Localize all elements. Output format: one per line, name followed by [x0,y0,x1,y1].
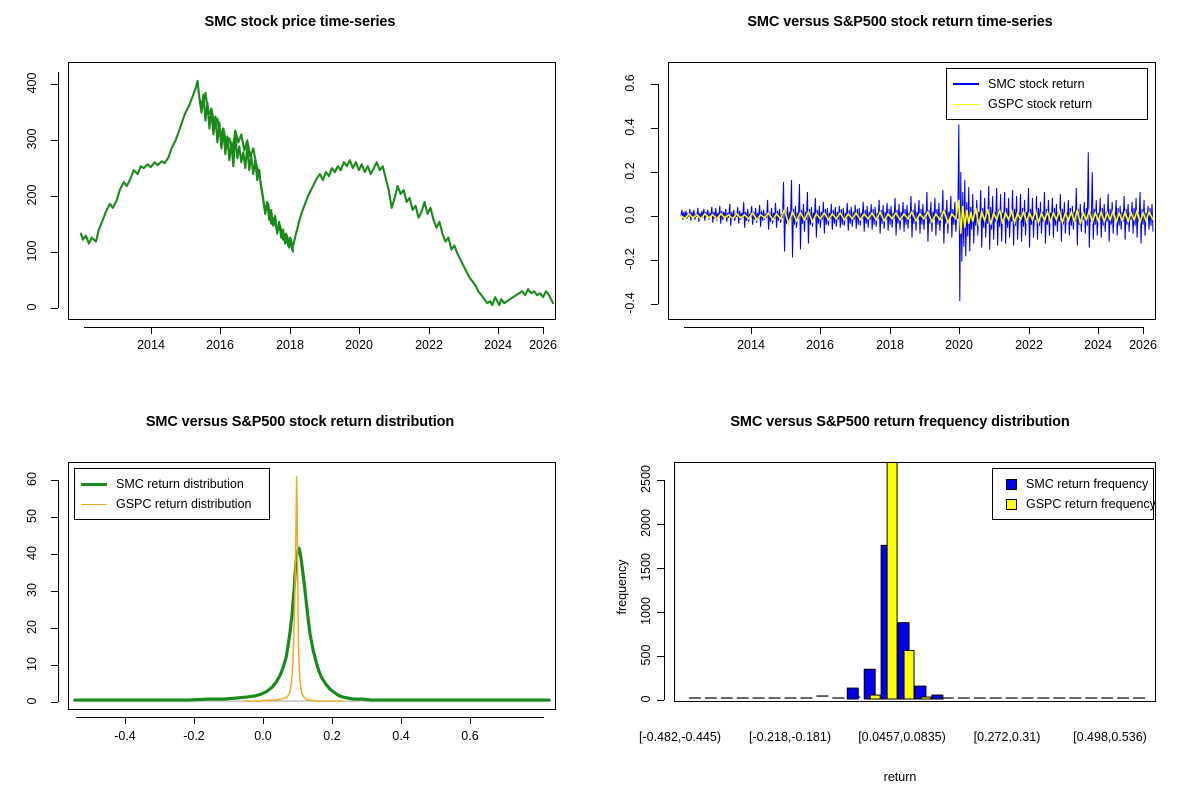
density-ytick-60: 60 [25,457,39,501]
returns-xtickmark-2018 [890,327,891,334]
hist-ytick-500: 500 [639,633,653,677]
panel-density-title: SMC versus S&P500 stock return distribut… [0,414,600,430]
density-xtick-neg04: -0.4 [100,729,150,743]
returns-xtick-2022: 2022 [1004,338,1054,352]
returns-xtickmark-2022 [1029,327,1030,334]
density-xtick-0: 0.0 [238,729,288,743]
panel-price-title: SMC stock price time-series [0,14,600,30]
smc-density-line-swatch [81,483,107,486]
returns-ytick-0: 0.0 [623,191,637,239]
price-xtickmark-2016 [220,327,221,334]
hist-y-axis [664,480,665,700]
hist-bar-gspc-12 [921,697,931,699]
hist-bar-gspc-2900 [887,463,897,699]
returns-ytickmark-neg04 [651,304,658,305]
panel-price-timeseries: SMC stock price time-series 0 100 200 30… [0,0,600,400]
hist-ytickmark-500 [657,656,664,657]
density-ytickmark-60 [51,480,58,481]
returns-ytickmark-06 [651,84,658,85]
returns-xtick-2020: 2020 [934,338,984,352]
hist-legend: SMC return frequency GSPC return frequen… [992,468,1154,520]
returns-ytick-04: 0.4 [623,103,637,151]
density-xtick-04: 0.4 [376,729,426,743]
hist-xtick-bin2: [-0.218,-0.181) [730,730,850,744]
price-ytickmark-100 [51,252,58,253]
hist-ytick-1500: 1500 [639,545,653,589]
hist-ylabel: frequency [615,547,629,627]
returns-x-axis [684,327,1144,328]
returns-ytick-02: 0.2 [623,147,637,195]
returns-xtickmark-2026 [1143,327,1144,334]
returns-y-axis [658,84,659,304]
gspc-return-line-swatch [953,104,979,105]
price-xtick-2026: 2026 [518,338,568,352]
price-xtick-2024: 2024 [473,338,523,352]
density-xtickmark-neg02 [194,717,195,724]
density-xtick-06: 0.6 [445,729,495,743]
returns-xtickmark-2024 [1098,327,1099,334]
returns-xtickmark-2016 [820,327,821,334]
panel-return-distribution: SMC versus S&P500 stock return distribut… [0,400,600,800]
returns-legend: SMC stock return GSPC stock return [946,68,1148,120]
smc-frequency-square-swatch [1006,479,1017,490]
returns-xtick-2024: 2024 [1073,338,1123,352]
gspc-return-legend-label: GSPC stock return [988,97,1092,111]
returns-ytick-neg04: -0.4 [623,279,637,327]
price-xtickmark-2024 [498,327,499,334]
smc-frequency-legend-label: SMC return frequency [1026,477,1148,491]
panel-return-frequency: SMC versus S&P500 return frequency distr… [600,400,1200,800]
price-ytick-0: 0 [25,287,39,327]
gspc-frequency-square-swatch [1006,499,1017,510]
hist-xtick-bin3: [0.0457,0.0835) [838,730,966,744]
price-line-chart [69,63,555,319]
price-xtick-2020: 2020 [334,338,384,352]
price-ytickmark-0 [51,308,58,309]
hist-ytickmark-2500 [657,480,664,481]
hist-bar-smc-70 [847,688,858,699]
hist-ytick-1000: 1000 [639,589,653,633]
density-ytickmark-50 [51,517,58,518]
returns-xtickmark-2014 [751,327,752,334]
price-xtickmark-2014 [151,327,152,334]
price-xtickmark-2018 [290,327,291,334]
density-legend-item-smc: SMC return distribution [81,474,261,494]
price-plot-area [68,62,556,320]
price-ytick-200: 200 [25,175,39,215]
hist-ytickmark-1000 [657,612,664,613]
hist-bar-smc-330 [864,669,875,699]
density-xtickmark-neg04 [125,717,126,724]
price-xtick-2018: 2018 [265,338,315,352]
density-ytickmark-10 [51,665,58,666]
returns-ytick-neg02: -0.2 [623,235,637,283]
density-legend: SMC return distribution GSPC return dist… [74,468,270,520]
returns-legend-item-smc: SMC stock return [953,74,1139,94]
smc-price-line [81,81,553,305]
returns-xtick-2016: 2016 [795,338,845,352]
price-xtick-2014: 2014 [126,338,176,352]
hist-ytickmark-1500 [657,568,664,569]
density-xtickmark-06 [470,717,471,724]
hist-bar-smc-30 [932,695,943,699]
hist-xtick-bin5: [0.498,0.536) [1050,730,1170,744]
hist-legend-item-smc: SMC return frequency [999,474,1145,494]
price-xtick-2016: 2016 [195,338,245,352]
smc-density-curve [75,548,549,700]
hist-ytick-0: 0 [639,677,653,721]
price-ytick-400: 400 [25,63,39,103]
density-ytickmark-20 [51,628,58,629]
density-xtick-neg02: -0.2 [169,729,219,743]
returns-ytickmark-0 [651,216,658,217]
returns-xtick-2014: 2014 [726,338,776,352]
density-y-axis [58,480,59,702]
density-x-axis [76,717,544,718]
density-legend-item-gspc: GSPC return distribution [81,494,261,514]
smc-return-legend-label: SMC stock return [988,77,1085,91]
gspc-density-legend-label: GSPC return distribution [116,497,251,511]
hist-xlabel: return [850,770,950,784]
hist-xtick-bin4: [0.272,0.31) [952,730,1062,744]
hist-ytick-2500: 2500 [639,457,653,501]
figure-grid: SMC stock price time-series 0 100 200 30… [0,0,1200,800]
price-ytick-300: 300 [25,119,39,159]
returns-ytick-06: 0.6 [623,59,637,107]
density-xtickmark-02 [332,717,333,724]
price-ytickmark-400 [51,84,58,85]
returns-ytickmark-02 [651,172,658,173]
returns-xtick-2018: 2018 [865,338,915,352]
density-xtick-02: 0.2 [307,729,357,743]
density-ytickmark-0 [51,702,58,703]
density-xtickmark-0 [263,717,264,724]
hist-ytickmark-0 [657,700,664,701]
price-ytickmark-300 [51,140,58,141]
returns-legend-item-gspc: GSPC stock return [953,94,1139,114]
returns-xtickmark-2020 [959,327,960,334]
hist-legend-item-gspc: GSPC return frequency [999,494,1145,514]
panel-hist-title: SMC versus S&P500 return frequency distr… [600,414,1200,430]
density-ytickmark-30 [51,591,58,592]
panel-return-timeseries: SMC versus S&P500 stock return time-seri… [600,0,1200,400]
hist-bar-gspc-40 [870,695,880,699]
hist-bar-gspc-555 [904,650,914,699]
returns-ytickmark-neg02 [651,260,658,261]
smc-density-legend-label: SMC return distribution [116,477,244,491]
gspc-density-line-swatch [81,504,107,505]
price-ytick-100: 100 [25,231,39,271]
returns-ytickmark-04 [651,128,658,129]
price-ytickmark-200 [51,196,58,197]
price-y-axis [58,72,59,308]
density-xtickmark-04 [401,717,402,724]
panel-returns-title: SMC versus S&P500 stock return time-seri… [600,14,1200,30]
price-x-axis [84,327,544,328]
price-xtickmark-2022 [429,327,430,334]
price-xtick-2022: 2022 [404,338,454,352]
price-xtickmark-2026 [543,327,544,334]
smc-return-line-swatch [953,83,979,85]
gspc-frequency-legend-label: GSPC return frequency [1026,497,1156,511]
hist-ytickmark-2000 [657,524,664,525]
returns-xtick-2026: 2026 [1118,338,1168,352]
price-xtickmark-2020 [359,327,360,334]
density-ytickmark-40 [51,554,58,555]
hist-ytick-2000: 2000 [639,501,653,545]
hist-xtick-bin1: [-0.482,-0.445) [620,730,740,744]
